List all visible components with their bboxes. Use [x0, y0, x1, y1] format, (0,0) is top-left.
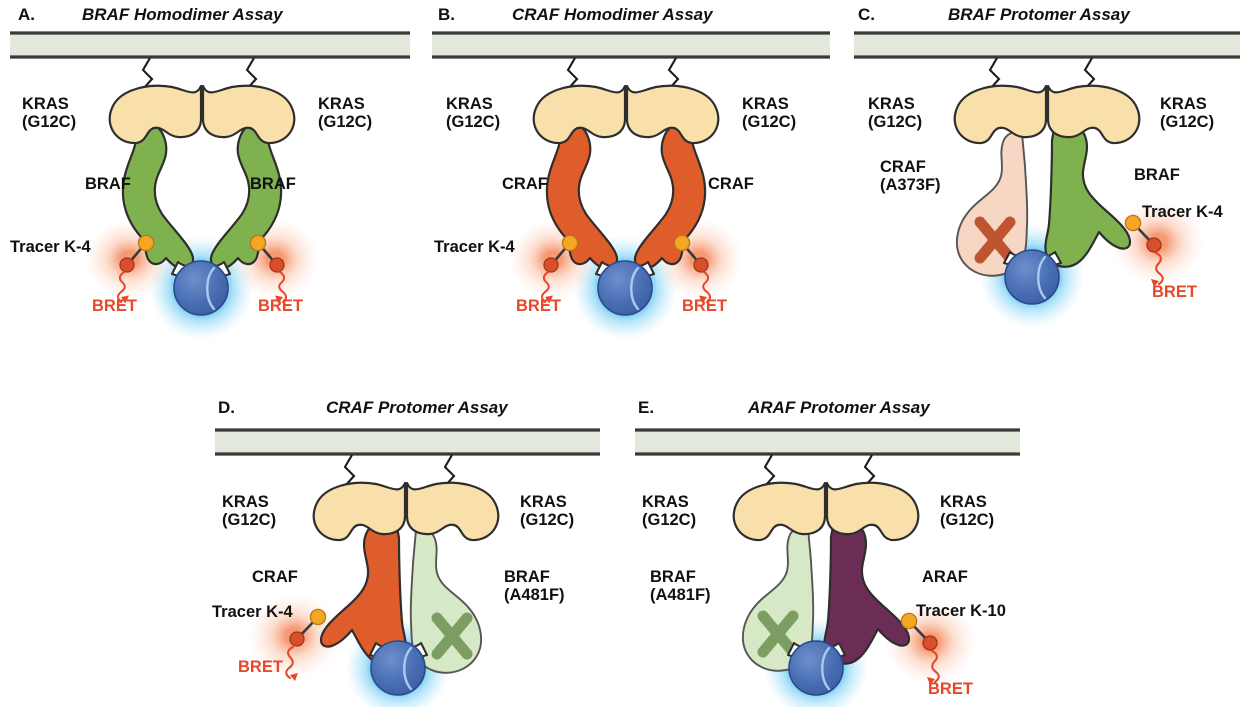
kras-name: KRAS — [22, 95, 69, 113]
tracer-red-dot — [694, 258, 708, 272]
kras-label-left-a: KRAS (G12C) — [22, 95, 76, 132]
tracer-red-dot — [120, 258, 134, 272]
tracer-amber-dot — [562, 235, 577, 250]
panel-a: A. BRAF Homodimer Assay — [0, 0, 420, 340]
kras-mutation: (G12C) — [940, 511, 994, 529]
protein-name: BRAF — [650, 568, 696, 586]
panel-a-diagram — [0, 0, 420, 340]
kras-mutation: (G12C) — [222, 511, 276, 529]
kras-name: KRAS — [868, 95, 915, 113]
protein-kras-left-e — [734, 483, 825, 540]
protein-label-left-d: CRAF — [252, 568, 298, 586]
protein-mutation: (A481F) — [650, 586, 711, 604]
kras-label-left-d: KRAS (G12C) — [222, 493, 276, 530]
kras-name: KRAS — [940, 493, 987, 511]
panel-e: E. ARAF Protomer Assay — [620, 390, 1040, 707]
kras-mutation: (G12C) — [642, 511, 696, 529]
membrane-d — [215, 430, 600, 454]
kras-name: KRAS — [1160, 95, 1207, 113]
protein-mutation: (A481F) — [504, 586, 565, 604]
bret-label-right-c: BRET — [1152, 283, 1197, 302]
kras-label-right-a: KRAS (G12C) — [318, 95, 372, 132]
kras-name: KRAS — [222, 493, 269, 511]
kras-name: KRAS — [742, 95, 789, 113]
kras-mutation: (G12C) — [520, 511, 574, 529]
tracer-label-left-d: Tracer K-4 — [212, 603, 293, 621]
protein-kras-right-d — [407, 483, 498, 540]
protein-name: CRAF — [880, 158, 926, 176]
protein-mutation: (A373F) — [880, 176, 941, 194]
kras-name: KRAS — [318, 95, 365, 113]
tracer-red-dot — [544, 258, 558, 272]
kras-name: KRAS — [446, 95, 493, 113]
kras-label-right-e: KRAS (G12C) — [940, 493, 994, 530]
kras-label-left-b: KRAS (G12C) — [446, 95, 500, 132]
bret-label-left-b: BRET — [516, 297, 561, 316]
panel-d: D. CRAF Protomer Assay — [200, 390, 620, 707]
membrane-e — [635, 430, 1020, 454]
membrane-b — [432, 33, 830, 57]
kras-mutation: (G12C) — [1160, 113, 1214, 131]
luciferase-sphere-b — [598, 261, 652, 315]
protein-kras-left-c — [955, 86, 1046, 143]
bret-label-right-a: BRET — [258, 297, 303, 316]
membrane-c — [854, 33, 1240, 57]
protein-label-right-b: CRAF — [708, 175, 754, 193]
bret-label-right-b: BRET — [682, 297, 727, 316]
tracer-red-dot — [270, 258, 284, 272]
tracer-amber-dot — [674, 235, 689, 250]
kras-label-right-b: KRAS (G12C) — [742, 95, 796, 132]
protein-label-right-c: BRAF — [1134, 166, 1180, 184]
protein-label-left-b: CRAF — [502, 175, 548, 193]
tracer-amber-dot — [250, 235, 265, 250]
tracer-amber-dot — [901, 613, 916, 628]
luciferase-sphere-c — [1005, 250, 1059, 304]
kras-label-left-c: KRAS (G12C) — [868, 95, 922, 132]
protein-kras-left-d — [314, 483, 405, 540]
tracer-amber-dot — [310, 609, 325, 624]
panel-b-diagram — [420, 0, 840, 340]
tracer-red-dot — [1147, 238, 1161, 252]
membrane-a — [10, 33, 410, 57]
tracer-red-dot — [923, 636, 937, 650]
kras-label-right-d: KRAS (G12C) — [520, 493, 574, 530]
protein-kras-right-c — [1048, 86, 1139, 143]
bret-label-right-e: BRET — [928, 680, 973, 699]
protein-name: BRAF — [504, 568, 550, 586]
protein-label-right-d: BRAF (A481F) — [504, 568, 565, 605]
kras-mutation: (G12C) — [318, 113, 372, 131]
protein-label-right-e: ARAF — [922, 568, 968, 586]
tracer-label-left-a: Tracer K-4 — [10, 238, 91, 256]
protein-kras-right-e — [827, 483, 918, 540]
kras-mutation: (G12C) — [22, 113, 76, 131]
tracer-label-right-e: Tracer K-10 — [916, 602, 1006, 620]
protein-label-left-e: BRAF (A481F) — [650, 568, 711, 605]
kras-name: KRAS — [520, 493, 567, 511]
bret-label-left-d: BRET — [238, 658, 283, 677]
tracer-label-left-b: Tracer K-4 — [434, 238, 515, 256]
kras-mutation: (G12C) — [742, 113, 796, 131]
protein-araf-right-e — [824, 520, 909, 664]
tracer-red-dot — [290, 632, 304, 646]
protein-label-left-a: BRAF — [85, 175, 131, 193]
luciferase-sphere-d — [371, 641, 425, 695]
luciferase-sphere-a — [174, 261, 228, 315]
kras-name: KRAS — [642, 493, 689, 511]
panel-e-diagram — [620, 390, 1040, 707]
protein-label-left-c: CRAF (A373F) — [880, 158, 941, 195]
protein-label-right-a: BRAF — [250, 175, 296, 193]
tracer-amber-dot — [1125, 215, 1140, 230]
panel-b: B. CRAF Homodimer Assay — [420, 0, 840, 340]
kras-label-right-c: KRAS (G12C) — [1160, 95, 1214, 132]
panel-c: C. BRAF Protomer Assay — [840, 0, 1250, 340]
kras-mutation: (G12C) — [446, 113, 500, 131]
tracer-label-right-c: Tracer K-4 — [1142, 203, 1223, 221]
kras-mutation: (G12C) — [868, 113, 922, 131]
luciferase-sphere-e — [789, 641, 843, 695]
kras-label-left-e: KRAS (G12C) — [642, 493, 696, 530]
bret-label-left-a: BRET — [92, 297, 137, 316]
tracer-amber-dot — [138, 235, 153, 250]
protein-braf-right-c — [1045, 123, 1130, 267]
